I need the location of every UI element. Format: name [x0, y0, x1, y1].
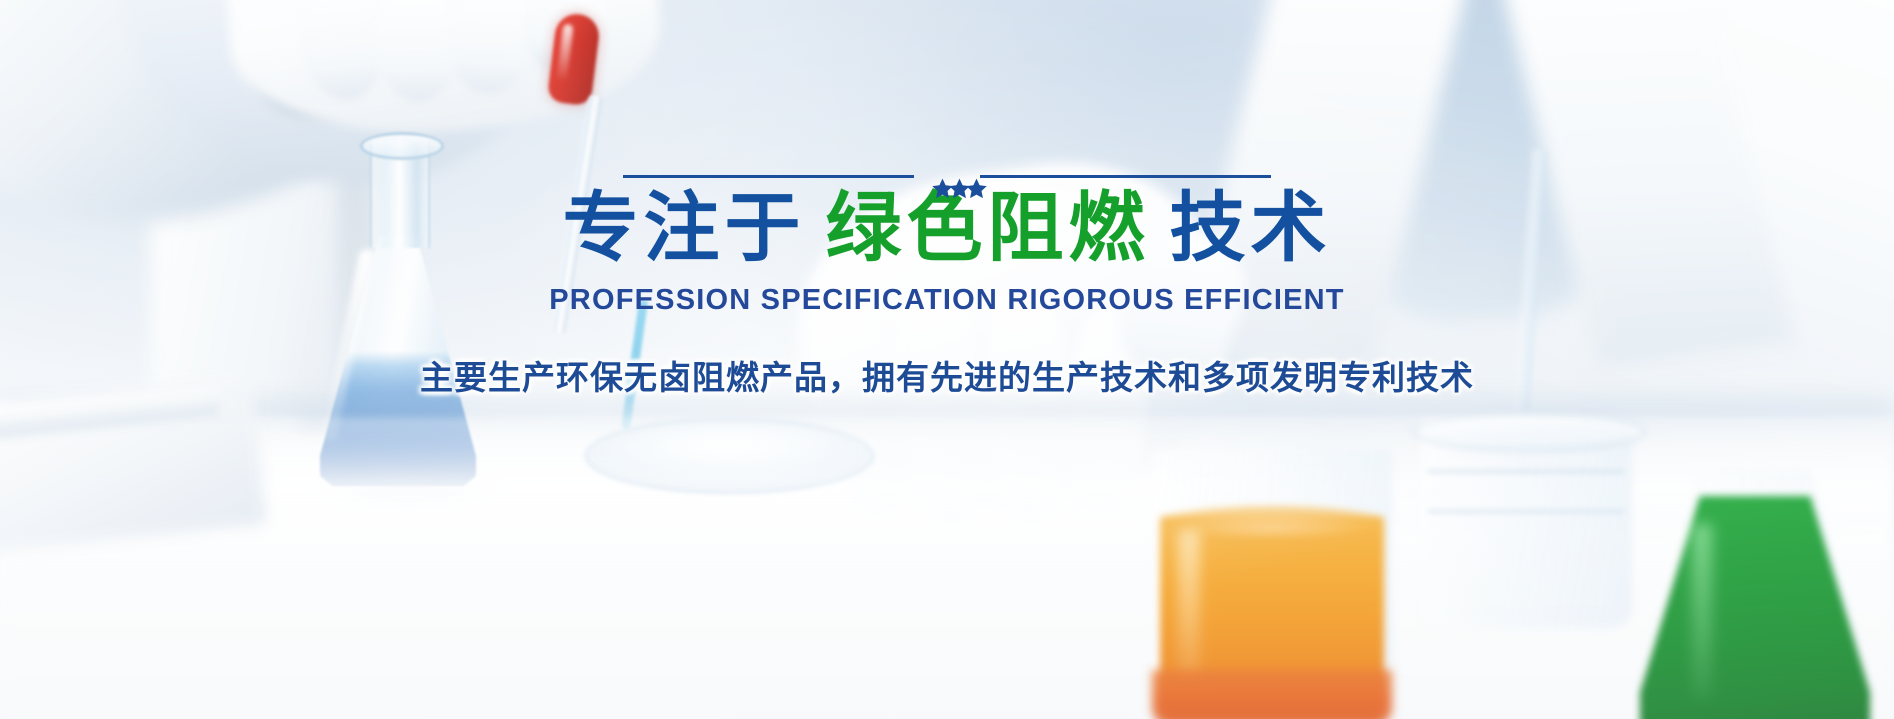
subtitle-english: PROFESSION SPECIFICATION RIGOROUS EFFICI…: [549, 284, 1344, 317]
divider-line-right: [980, 175, 1271, 178]
headline-part-1: 专注于: [563, 186, 806, 271]
decorative-divider: [623, 175, 1271, 178]
tagline-chinese: 主要生产环保无卤阻燃产品，拥有先进的生产技术和多项发明专利技术: [420, 351, 1474, 399]
divider-line-left: [623, 175, 914, 178]
headline-part-3: 技术: [1170, 186, 1332, 271]
banner-content: 专注于绿色阻燃技术 PROFESSION SPECIFICATION RIGOR…: [0, 0, 1894, 719]
hero-banner: 专注于绿色阻燃技术 PROFESSION SPECIFICATION RIGOR…: [0, 0, 1894, 719]
